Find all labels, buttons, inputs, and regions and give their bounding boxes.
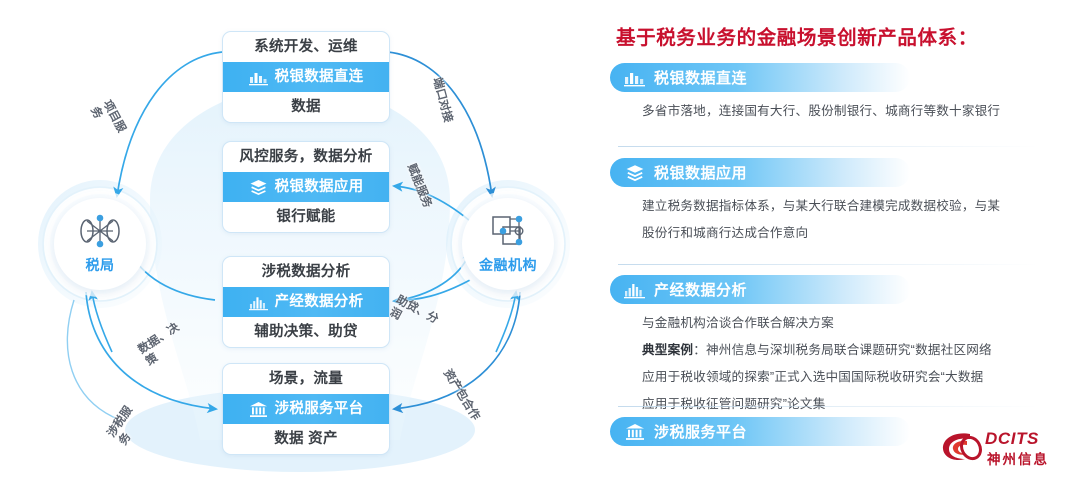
card-top-label: 场景，流量 (223, 364, 389, 394)
section-pill[interactable]: 涉税服务平台 (610, 417, 910, 446)
section-paragraph-case: 典型案例：神州信息与深圳税务局联合课题研究“数据社区网络 (642, 340, 1070, 361)
section-paragraph: 股份行和城商行达成合作意向 (642, 223, 1070, 244)
case-text: ：神州信息与深圳税务局联合课题研究“数据社区网络 (693, 343, 992, 357)
node-financial-institution-label: 金融机构 (479, 255, 537, 275)
section-divider (618, 264, 1038, 265)
section-paragraph: 应用于税收征管问题研究”论文集 (642, 394, 1070, 415)
section-tax-bank-data-application: 税银数据应用 建立税务数据指标体系，与某大行联合建模完成数据校验，与某 股份行和… (610, 158, 1070, 250)
slide-root: 税局 金融机构 系统开发、运维 (0, 0, 1080, 479)
case-lead: 典型案例 (642, 343, 693, 357)
card-tax-bank-direct-connect[interactable]: 系统开发、运维 税银数据直连 数据 (222, 31, 390, 123)
section-pill-label: 税银数据直连 (654, 67, 747, 88)
card-top-label: 涉税数据分析 (223, 257, 389, 287)
card-highlight-row[interactable]: 产经数据分析 (223, 287, 389, 317)
section-industrial-economic-data-analysis: 产经数据分析 与金融机构洽谈合作联合解决方案 典型案例：神州信息与深圳税务局联合… (610, 275, 1070, 421)
card-highlight-label: 税银数据直连 (275, 62, 364, 92)
dcits-logo: DCITS 神州信息 (940, 428, 1072, 470)
histogram-icon (249, 294, 268, 311)
section-tax-bank-direct-connect: 税银数据直连 多省市落地，连接国有大行、股份制银行、城商行等数十家银行 (610, 63, 1070, 128)
section-pill[interactable]: 产经数据分析 (610, 275, 910, 304)
card-bottom-label: 数据 资产 (223, 424, 389, 454)
card-industrial-economic-data-analysis[interactable]: 涉税数据分析 产经数据分析 辅助决策、助贷 (222, 256, 390, 348)
bank-columns-icon (624, 423, 645, 441)
section-pill-label: 产经数据分析 (654, 279, 747, 300)
card-highlight-label: 涉税服务平台 (275, 394, 364, 424)
node-tax-bureau-label: 税局 (86, 255, 115, 275)
card-top-label: 风控服务，数据分析 (223, 142, 389, 172)
section-body: 多省市落地，连接国有大行、股份制银行、城商行等数十家银行 (610, 101, 1070, 122)
card-highlight-label: 税银数据应用 (275, 172, 364, 202)
card-highlight-row[interactable]: 税银数据应用 (223, 172, 389, 202)
dcits-chinese-name: 神州信息 (987, 448, 1049, 468)
node-financial-institution[interactable]: 金融机构 (462, 198, 554, 290)
node-tax-bureau[interactable]: 税局 (54, 198, 146, 290)
card-bottom-label: 辅助决策、助贷 (223, 317, 389, 347)
card-top-label: 系统开发、运维 (223, 32, 389, 62)
layers-icon (624, 164, 645, 182)
panel-title: 基于税务业务的金融场景创新产品体系： (616, 21, 978, 50)
bank-columns-icon (249, 401, 268, 418)
card-highlight-label: 产经数据分析 (275, 287, 364, 317)
dcits-swirl-icon (940, 430, 982, 469)
section-body: 建立税务数据指标体系，与某大行联合建模完成数据校验，与某 股份行和城商行达成合作… (610, 196, 1070, 244)
section-paragraph: 多省市落地，连接国有大行、股份制银行、城商行等数十家银行 (642, 101, 1070, 122)
card-tax-bank-data-application[interactable]: 风控服务，数据分析 税银数据应用 银行赋能 (222, 141, 390, 233)
section-paragraph: 与金融机构洽谈合作联合解决方案 (642, 313, 1070, 334)
dcits-wordmark: DCITS (985, 429, 1039, 449)
bar-chart-icon (249, 69, 268, 86)
card-bottom-label: 数据 (223, 92, 389, 122)
linked-squares-icon (486, 214, 530, 253)
bar-chart-icon (624, 69, 645, 87)
section-paragraph: 建立税务数据指标体系，与某大行联合建模完成数据校验，与某 (642, 196, 1070, 217)
section-divider (618, 406, 1038, 407)
card-tax-service-platform[interactable]: 场景，流量 涉税服务平台 数据 资产 (222, 363, 390, 455)
layers-icon (249, 179, 268, 196)
histogram-icon (624, 281, 645, 299)
section-paragraph: 应用于税收领域的探索”正式入选中国国际税收研究会“大数据 (642, 367, 1070, 388)
section-pill[interactable]: 税银数据直连 (610, 63, 910, 92)
cycle-diagram: 税局 金融机构 系统开发、运维 (0, 0, 600, 479)
section-pill-label: 税银数据应用 (654, 162, 747, 183)
card-highlight-row[interactable]: 涉税服务平台 (223, 394, 389, 424)
product-system-panel: 基于税务业务的金融场景创新产品体系： 税银数据直连 多省市落地，连接国有大行、股… (604, 0, 1080, 479)
card-highlight-row[interactable]: 税银数据直连 (223, 62, 389, 92)
section-divider (618, 146, 1038, 147)
section-pill[interactable]: 税银数据应用 (610, 158, 910, 187)
section-pill-label: 涉税服务平台 (654, 421, 747, 442)
card-bottom-label: 银行赋能 (223, 202, 389, 232)
section-body: 与金融机构洽谈合作联合解决方案 典型案例：神州信息与深圳税务局联合课题研究“数据… (610, 313, 1070, 415)
network-node-icon (78, 214, 122, 253)
